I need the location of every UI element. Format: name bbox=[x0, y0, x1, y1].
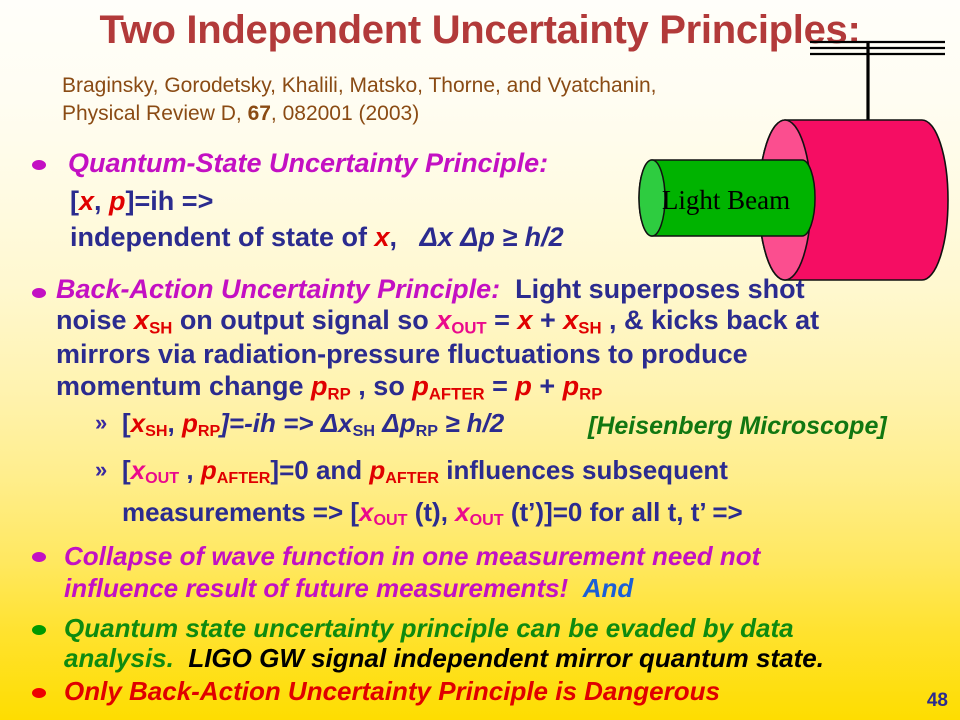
reference-volume: 67 bbox=[248, 102, 271, 125]
bullet-dot-2 bbox=[32, 288, 46, 298]
page-number: 48 bbox=[927, 690, 948, 712]
symbol-xout-tprime: x bbox=[455, 497, 469, 527]
bullet-3-line-2: influence result of future measurements!… bbox=[64, 573, 633, 604]
symbol-pafter-2: p bbox=[369, 455, 385, 485]
momentum-change-text: momentum change bbox=[56, 371, 311, 401]
suspension-wires-icon bbox=[810, 42, 945, 123]
commutator-rest: ]=ih => bbox=[126, 186, 214, 216]
symbol-pafter-subscript: AFTER bbox=[217, 469, 271, 487]
bullet-4-ligo-statement: LIGO GW signal independent mirror quantu… bbox=[188, 643, 824, 673]
independent-of-state-text: independent of state of bbox=[70, 222, 375, 252]
bracket-open: [ bbox=[122, 408, 131, 438]
diagram-svg: Light Beam bbox=[630, 20, 960, 290]
bullet-3-line-2-main: influence result of future measurements! bbox=[64, 573, 568, 603]
symbol-prp: p bbox=[311, 371, 328, 401]
sub-bullet-2-line-2: measurements => [xOUT (t), xOUT (t’)]=0 … bbox=[122, 497, 743, 530]
comma: , bbox=[179, 455, 201, 485]
symbol-xsh: x bbox=[134, 305, 149, 335]
comma: , bbox=[390, 222, 398, 252]
bullet-2-line-1: Back-Action Uncertainty Principle: Light… bbox=[56, 274, 805, 305]
slide-canvas: Two Independent Uncertainty Principles: … bbox=[0, 0, 960, 720]
heisenberg-microscope-note: [Heisenberg Microscope] bbox=[588, 412, 887, 441]
commutator-zero: ]=0 and bbox=[270, 455, 369, 485]
sub-bullet-marker-2: » bbox=[95, 457, 107, 483]
bullet-4-analysis: analysis. bbox=[64, 643, 174, 673]
mirror-light-beam-diagram: Light Beam bbox=[630, 20, 960, 290]
bracket-open: [ bbox=[122, 455, 131, 485]
symbol-pafter-subscript: AFTER bbox=[429, 384, 485, 403]
measurements-text: measurements => [ bbox=[122, 497, 359, 527]
symbol-pafter-2-subscript: AFTER bbox=[385, 469, 439, 487]
symbol-xsh-subscript: SH bbox=[149, 318, 172, 337]
symbol-prp: p bbox=[182, 408, 198, 438]
symbol-xout-t-subscript: OUT bbox=[373, 511, 407, 529]
symbol-xout-t: x bbox=[359, 497, 373, 527]
symbol-x: x bbox=[517, 305, 532, 335]
time-arg-2: (t’)]=0 for all t, t’ => bbox=[504, 497, 743, 527]
symbol-prp-2: p bbox=[563, 371, 580, 401]
symbol-xout: x bbox=[131, 455, 145, 485]
so-text: , so bbox=[351, 371, 413, 401]
bullet-3-line-1: Collapse of wave function in one measure… bbox=[64, 541, 760, 572]
bullet-5-line-1: Only Back-Action Uncertainty Principle i… bbox=[64, 676, 720, 707]
delta-prp: Δp bbox=[382, 408, 415, 438]
symbol-xsh-subscript: SH bbox=[145, 422, 167, 440]
reference-article-id: , 082001 (2003) bbox=[271, 102, 419, 125]
light-beam-label: Light Beam bbox=[662, 185, 790, 215]
influences-text: influences subsequent bbox=[439, 455, 728, 485]
bullet-dot-5 bbox=[32, 688, 46, 698]
symbol-x: x bbox=[79, 186, 94, 216]
bullet-3-and: And bbox=[583, 573, 634, 603]
delta-xsh-subscript: SH bbox=[353, 422, 375, 440]
bullet-4-line-1: Quantum state uncertainty principle can … bbox=[64, 613, 794, 644]
symbol-prp-2-subscript: RP bbox=[579, 384, 602, 403]
sub-bullet-marker-1: » bbox=[95, 410, 107, 436]
bullet-2-line-2: noise xSH on output signal so xOUT = x +… bbox=[56, 305, 819, 338]
inequality-tail: ≥ h/2 bbox=[438, 408, 504, 438]
comma: , bbox=[168, 408, 182, 438]
bullet-1-line-3: independent of state of x, Δx Δp ≥ h/2 bbox=[70, 222, 564, 253]
noise-text: noise bbox=[56, 305, 134, 335]
symbol-xout-tprime-subscript: OUT bbox=[470, 511, 504, 529]
symbol-p: p bbox=[109, 186, 126, 216]
symbol-xsh-2-subscript: SH bbox=[578, 318, 601, 337]
symbol-x: x bbox=[375, 222, 390, 252]
bullet-2-line-1-tail: Light superposes shot bbox=[515, 274, 805, 304]
equals: = bbox=[485, 371, 516, 401]
bullet-2-line-3: mirrors via radiation-pressure fluctuati… bbox=[56, 339, 748, 370]
bullet-dot-3 bbox=[32, 552, 46, 562]
symbol-xout-subscript: OUT bbox=[145, 469, 179, 487]
symbol-xout: x bbox=[436, 305, 451, 335]
uncertainty-inequality: Δx Δp ≥ h/2 bbox=[420, 222, 564, 252]
symbol-xsh-2: x bbox=[563, 305, 578, 335]
sub-bullet-2-line-1: [xOUT , pAFTER]=0 and pAFTER influences … bbox=[122, 455, 728, 488]
symbol-xsh: x bbox=[131, 408, 145, 438]
equals: = bbox=[487, 305, 518, 335]
output-signal-text: on output signal so bbox=[172, 305, 436, 335]
plus: + bbox=[532, 305, 563, 335]
reference-journal: Physical Review D, bbox=[62, 102, 248, 125]
bracket-open: [ bbox=[70, 186, 79, 216]
symbol-xout-subscript: OUT bbox=[451, 318, 486, 337]
commutator-value: ]=-ih => bbox=[220, 408, 320, 438]
bullet-1-heading: Quantum-State Uncertainty Principle: bbox=[68, 148, 548, 179]
symbol-p: p bbox=[515, 371, 532, 401]
comma: , bbox=[94, 186, 109, 216]
bullet-dot-4 bbox=[32, 625, 46, 635]
symbol-pafter: p bbox=[201, 455, 217, 485]
time-arg-1: (t), bbox=[408, 497, 456, 527]
bullet-4-line-2: analysis. LIGO GW signal independent mir… bbox=[64, 643, 824, 674]
bullet-dot-1 bbox=[32, 160, 46, 170]
bullet-2-heading: Back-Action Uncertainty Principle: bbox=[56, 274, 500, 304]
delta-prp-subscript: RP bbox=[416, 422, 438, 440]
plus: + bbox=[532, 371, 563, 401]
symbol-prp-subscript: RP bbox=[198, 422, 220, 440]
sub-bullet-1-line: [xSH, pRP]=-ih => ΔxSH ΔpRP ≥ h/2 bbox=[122, 408, 504, 441]
bullet-1-line-2: [x, p]=ih => bbox=[70, 186, 213, 217]
symbol-prp-subscript: RP bbox=[328, 384, 351, 403]
delta-xsh: Δx bbox=[321, 408, 353, 438]
bullet-2-line-4: momentum change pRP , so pAFTER = p + pR… bbox=[56, 371, 602, 404]
kicks-back-text: , & kicks back at bbox=[602, 305, 820, 335]
symbol-pafter: p bbox=[412, 371, 429, 401]
